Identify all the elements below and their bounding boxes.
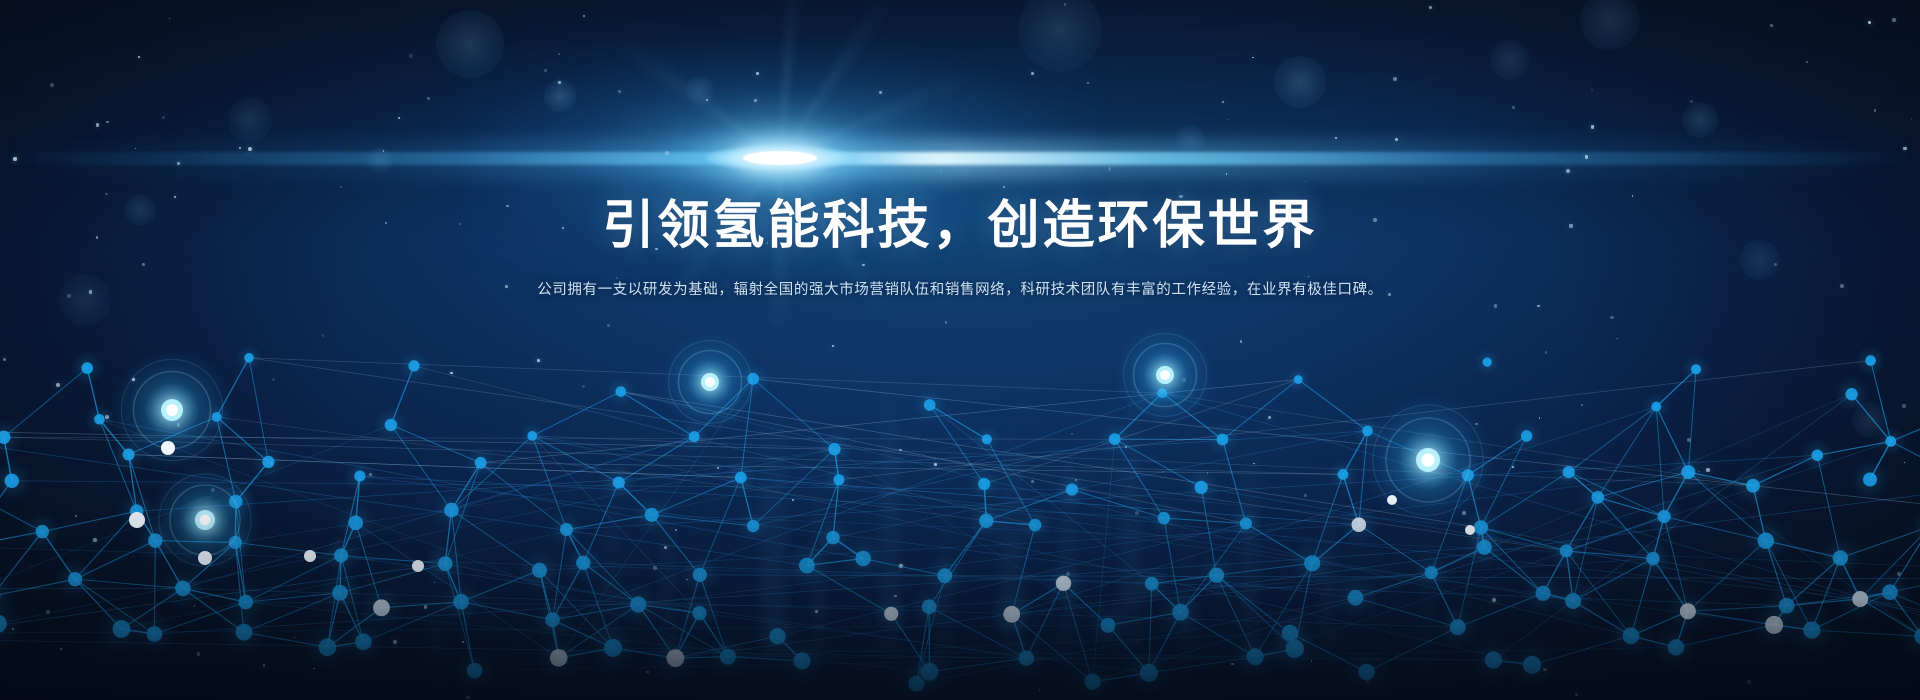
network-node	[1651, 402, 1661, 412]
network-node	[1563, 466, 1575, 478]
network-node	[475, 457, 487, 469]
network-node	[1338, 469, 1349, 480]
network-node	[1885, 436, 1896, 447]
network-node	[1812, 450, 1824, 462]
network-node	[527, 431, 537, 441]
network-accent-node	[660, 332, 761, 433]
network-node	[924, 399, 936, 411]
network-node	[1681, 465, 1695, 479]
network-node	[1521, 430, 1532, 441]
page-title: 引领氢能科技，创造环保世界	[0, 196, 1920, 257]
network-node	[616, 386, 627, 397]
hero-copy: 引领氢能科技，创造环保世界 公司拥有一支以研发为基础，辐射全国的强大市场营销队伍…	[0, 196, 1920, 303]
network-node-white	[161, 441, 175, 455]
network-node	[982, 434, 992, 444]
network-accent-node	[1115, 325, 1216, 426]
network-node	[81, 362, 93, 374]
network-node	[1691, 364, 1701, 374]
network-node	[262, 456, 274, 468]
page-subtitle: 公司拥有一支以研发为基础，辐射全国的强大市场营销队伍和销售网络，科研技术团队有丰…	[0, 279, 1920, 302]
network-node	[1845, 388, 1857, 400]
network-node	[1294, 375, 1303, 384]
network-edge	[839, 361, 1871, 480]
network-node	[408, 360, 419, 371]
network-node	[1109, 433, 1121, 445]
background-bottom-shade	[0, 480, 1920, 700]
network-node	[1483, 358, 1492, 367]
network-node	[1865, 355, 1876, 366]
network-node	[94, 414, 105, 425]
network-node	[828, 443, 840, 455]
network-node	[385, 419, 397, 431]
network-node	[689, 431, 700, 442]
network-node	[1217, 434, 1229, 446]
network-node	[244, 353, 254, 363]
hero-banner: 引领氢能科技，创造环保世界 公司拥有一支以研发为基础，辐射全国的强大市场营销队伍…	[0, 0, 1920, 700]
